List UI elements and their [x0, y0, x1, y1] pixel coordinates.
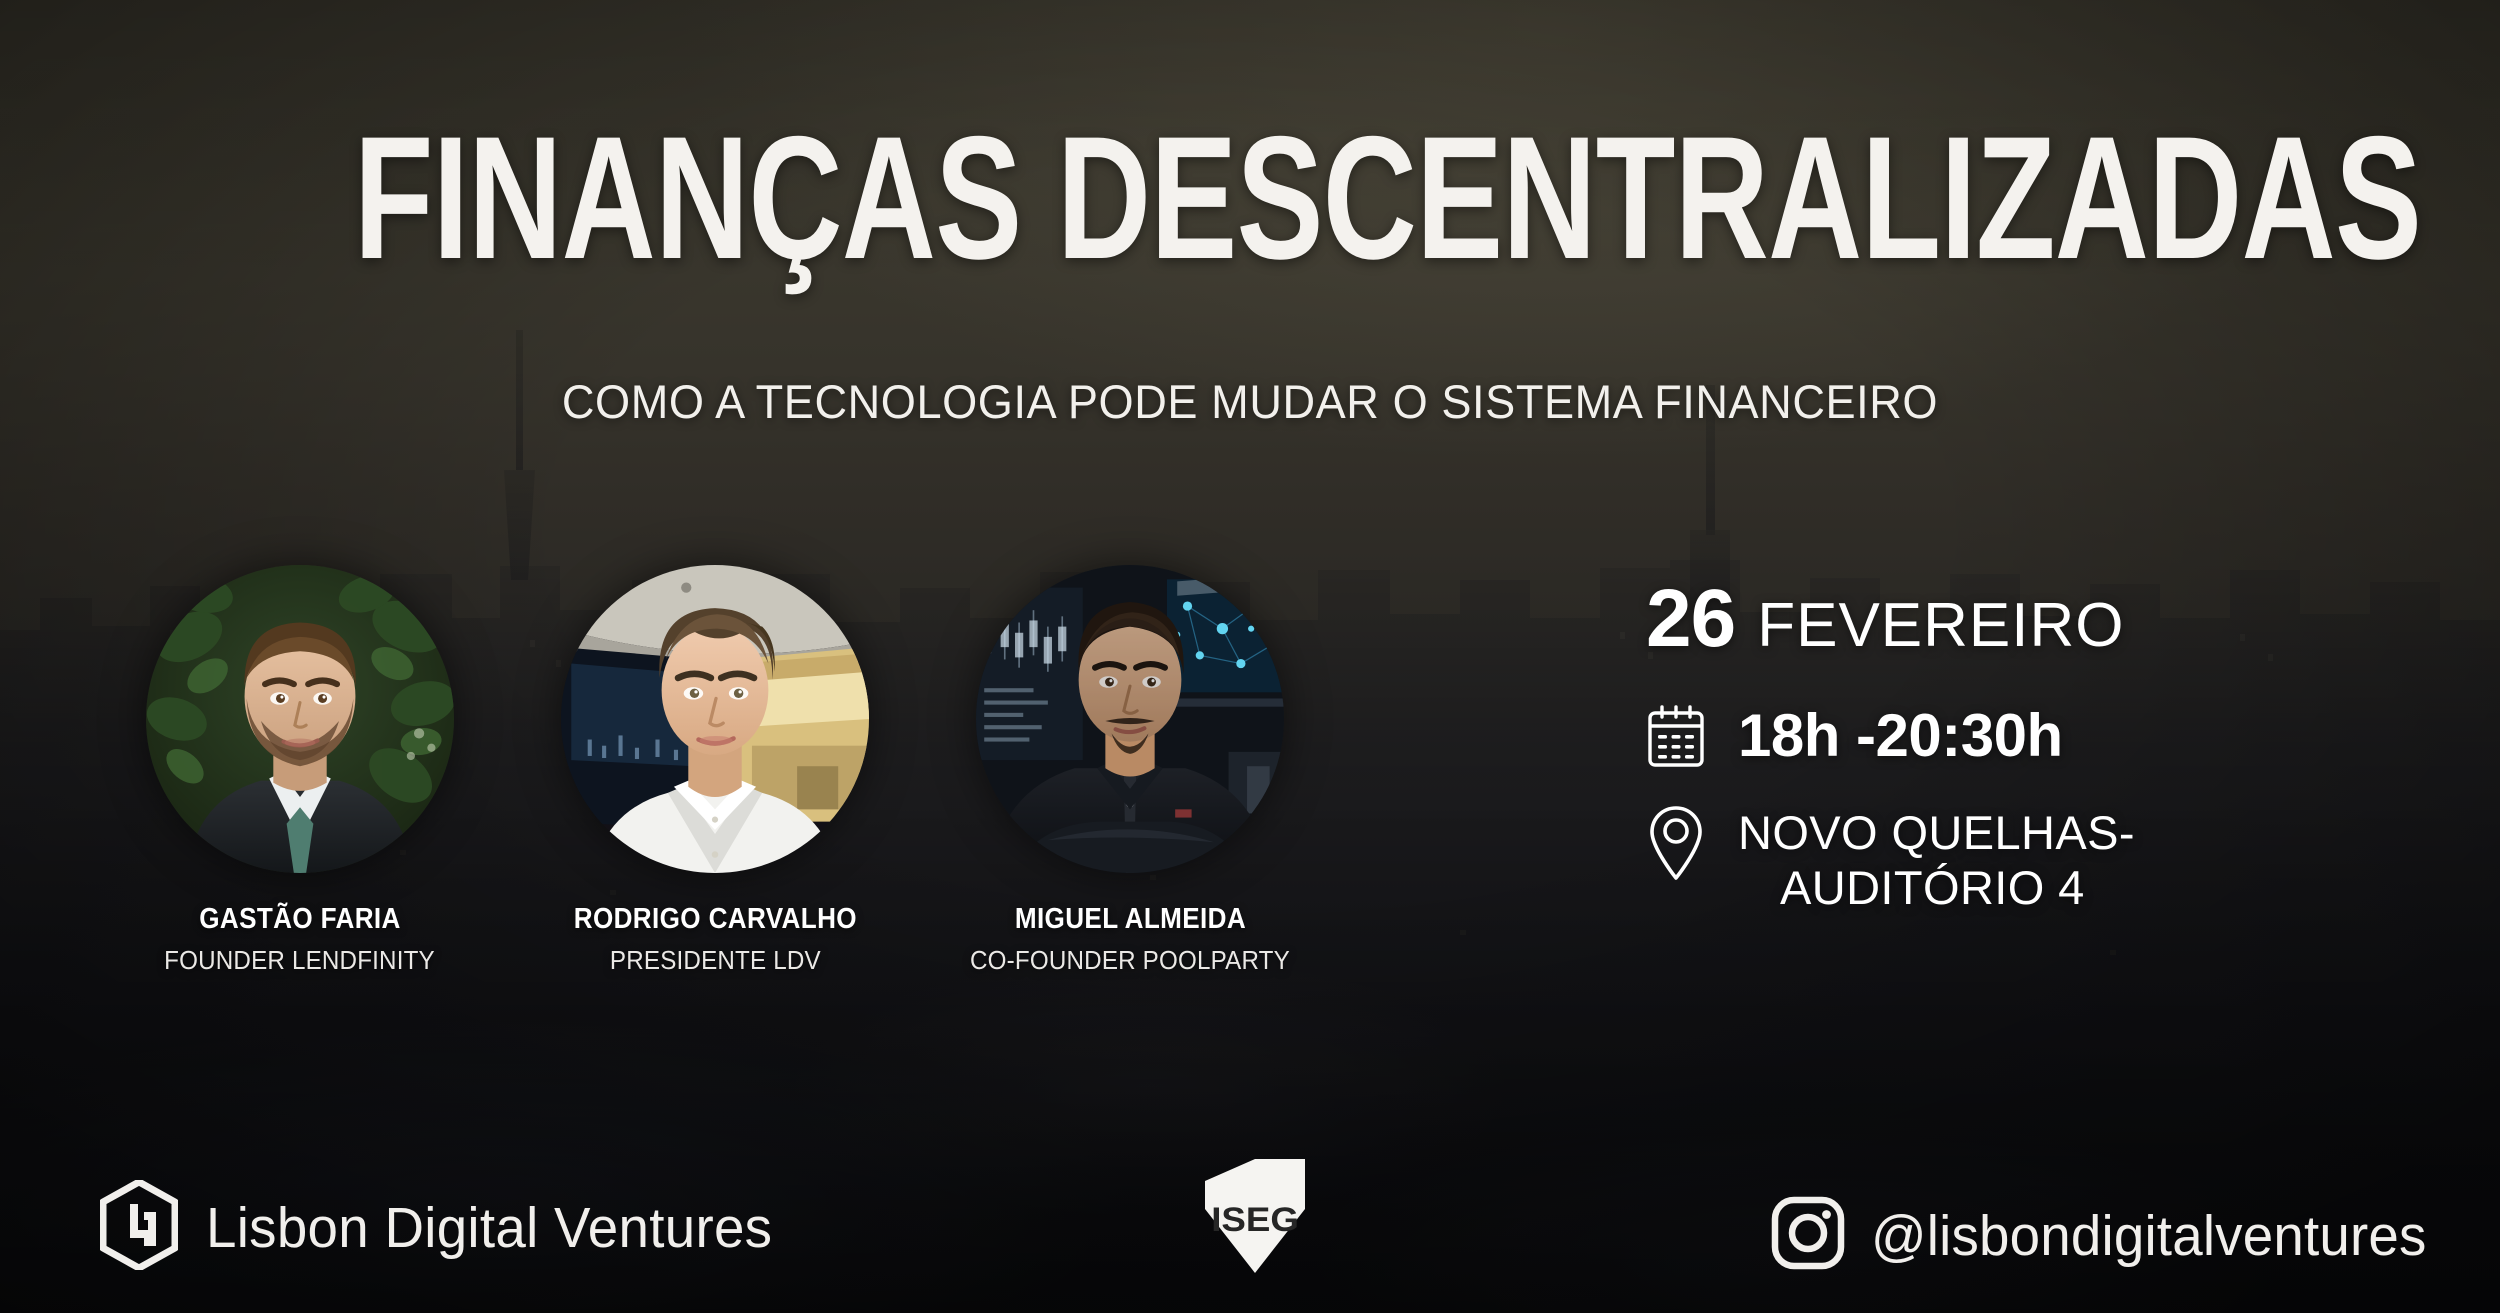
iseg-logo-icon[interactable]: ISEG	[1200, 1157, 1310, 1275]
speaker-name: MIGUEL ALMEIDA	[1014, 903, 1245, 936]
speaker-photo-gastao-faria	[146, 565, 454, 873]
location-pin-icon	[1640, 804, 1712, 882]
instagram-icon	[1771, 1196, 1845, 1275]
ldv-hexagon-logo-icon	[100, 1180, 178, 1275]
event-date: 26 FEVEREIRO	[1646, 578, 2420, 660]
speakers-list: GASTÃO FARIA FOUNDER LENDFINITY	[120, 565, 1500, 976]
speaker-role: FOUNDER LENDFINITY	[165, 945, 436, 976]
event-time-row: 18h -20:30h	[1640, 704, 2420, 768]
event-day: 26	[1646, 578, 1735, 660]
speaker-name: GASTÃO FARIA	[199, 903, 401, 936]
event-details: 26 FEVEREIRO	[1640, 578, 2420, 916]
event-poster: FINANÇAS DESCENTRALIZADAS COMO A TECNOLO…	[0, 0, 2500, 1313]
speaker-card: GASTÃO FARIA FOUNDER LENDFINITY	[120, 565, 480, 976]
speaker-photo-rodrigo-carvalho	[561, 565, 869, 873]
instagram-link[interactable]: @lisbondigitalventures	[1771, 1196, 2450, 1275]
speaker-role: CO-FOUNDER POOLPARTY	[970, 945, 1290, 976]
poster-title: FINANÇAS DESCENTRALIZADAS	[354, 118, 2421, 279]
poster-subtitle: COMO A TECNOLOGIA PODE MUDAR O SISTEMA F…	[50, 374, 2450, 429]
event-location-row: NOVO QUELHAS- AUDITÓRIO 4	[1640, 804, 2420, 916]
speaker-name: RODRIGO CARVALHO	[573, 903, 856, 936]
iseg-logo-text: ISEG	[1211, 1201, 1299, 1238]
event-location-line1: NOVO QUELHAS-	[1738, 806, 2135, 859]
speaker-card: RODRIGO CARVALHO PRESIDENTE LDV	[535, 565, 895, 976]
event-month: FEVEREIRO	[1757, 595, 2124, 657]
instagram-handle: @lisbondigitalventures	[1871, 1203, 2427, 1269]
title-block: FINANÇAS DESCENTRALIZADAS	[0, 118, 2500, 279]
calendar-icon	[1640, 704, 1712, 768]
speaker-card: MIGUEL ALMEIDA CO-FOUNDER POOLPARTY	[950, 565, 1310, 976]
brand-lisbon-digital-ventures[interactable]: Lisbon Digital Ventures	[100, 1180, 796, 1275]
event-location: NOVO QUELHAS- AUDITÓRIO 4	[1738, 804, 2135, 916]
event-location-line2: AUDITÓRIO 4	[1738, 861, 2135, 916]
speaker-role: PRESIDENTE LDV	[610, 945, 821, 976]
event-time: 18h -20:30h	[1738, 706, 2063, 766]
speaker-photo-miguel-almeida	[976, 565, 1284, 873]
brand-name-label: Lisbon Digital Ventures	[206, 1195, 772, 1261]
